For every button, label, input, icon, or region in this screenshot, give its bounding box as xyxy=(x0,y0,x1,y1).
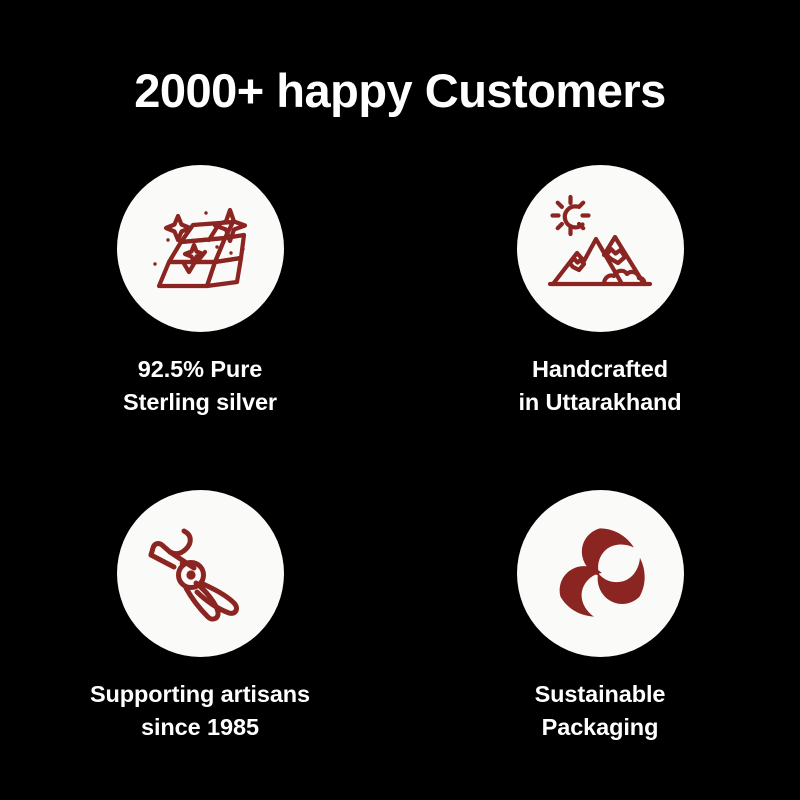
feature-item-sustainable-packaging: Sustainable Packaging xyxy=(400,490,800,765)
feature-caption-sustainable-packaging: Sustainable Packaging xyxy=(535,678,666,744)
recycling-leaves-icon xyxy=(547,521,653,627)
icon-badge-sterling-silver xyxy=(117,165,284,332)
icon-badge-sustainable-packaging xyxy=(517,490,684,657)
promo-card: 2000+ happy Customers xyxy=(0,0,800,800)
feature-item-handcrafted: Handcrafted in Uttarakhand xyxy=(400,165,800,490)
mountains-sun-icon xyxy=(544,193,656,305)
feature-item-sterling-silver: 92.5% Pure Sterling silver xyxy=(0,165,400,490)
jewellers-pliers-icon xyxy=(148,521,253,626)
caption-line-1: Supporting artisans xyxy=(90,678,310,711)
caption-line-1: 92.5% Pure xyxy=(123,353,277,386)
caption-line-2: since 1985 xyxy=(90,711,310,744)
page-title: 2000+ happy Customers xyxy=(0,62,800,120)
feature-item-supporting-artisans: Supporting artisans since 1985 xyxy=(0,490,400,765)
caption-line-2: Packaging xyxy=(535,711,666,744)
caption-line-1: Handcrafted xyxy=(518,353,681,386)
feature-caption-sterling-silver: 92.5% Pure Sterling silver xyxy=(123,353,277,419)
feature-grid: 92.5% Pure Sterling silver xyxy=(0,165,800,765)
icon-badge-supporting-artisans xyxy=(117,490,284,657)
icon-badge-handcrafted xyxy=(517,165,684,332)
silver-bars-sparkle-icon xyxy=(145,194,255,304)
caption-line-1: Sustainable xyxy=(535,678,666,711)
feature-caption-handcrafted: Handcrafted in Uttarakhand xyxy=(518,353,681,419)
caption-line-2: Sterling silver xyxy=(123,386,277,419)
caption-line-2: in Uttarakhand xyxy=(518,386,681,419)
feature-caption-supporting-artisans: Supporting artisans since 1985 xyxy=(90,678,310,744)
